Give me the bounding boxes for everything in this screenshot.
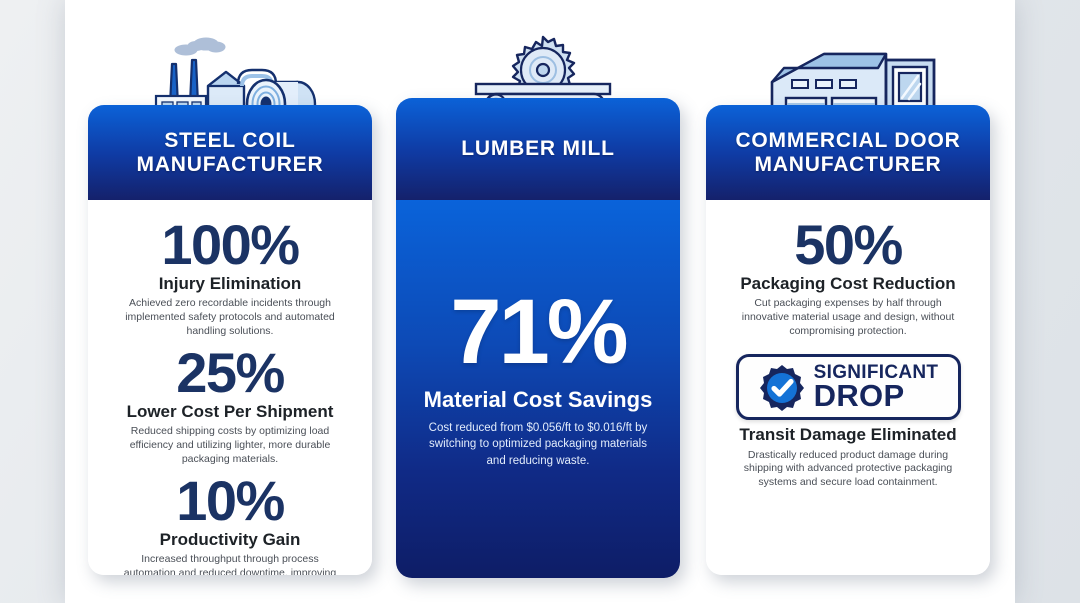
case-card-commercial-door[interactable]: COMMERCIAL DOOR MANUFACTURER 50% Packagi… — [706, 105, 990, 575]
featured-stat-description: Cost reduced from $0.056/ft to $0.016/ft… — [420, 420, 656, 469]
card-title-lumber-mill: LUMBER MILL — [461, 137, 614, 161]
stat-block: 10% Productivity Gain Increased throughp… — [110, 474, 350, 575]
card-title-commercial-door: COMMERCIAL DOOR MANUFACTURER — [735, 129, 960, 176]
stat-block: 25% Lower Cost Per Shipment Reduced ship… — [110, 346, 350, 467]
stat-description: Cut packaging expenses by half through i… — [728, 297, 968, 339]
check-seal-icon — [758, 363, 806, 411]
featured-stat-label: Material Cost Savings — [420, 387, 656, 412]
status-badge: SIGNIFICANT DROP — [736, 354, 961, 420]
stat-label: Injury Elimination — [110, 274, 350, 294]
card-body-lumber-mill: 71% Material Cost Savings Cost reduced f… — [396, 200, 680, 578]
case-card-steel-coil[interactable]: STEEL COIL MANUFACTURER 100% Injury Elim… — [88, 105, 372, 575]
card-header-commercial-door: COMMERCIAL DOOR MANUFACTURER — [706, 105, 990, 200]
stat-block: Transit Damage Eliminated Drastically re… — [728, 424, 968, 490]
stat-description: Achieved zero recordable incidents throu… — [110, 297, 350, 339]
stat-label: Lower Cost Per Shipment — [110, 402, 350, 422]
card-body-steel-coil: 100% Injury Elimination Achieved zero re… — [88, 200, 372, 575]
stat-label: Transit Damage Eliminated — [728, 425, 968, 445]
case-card-lumber-mill[interactable]: LUMBER MILL 71% Material Cost Savings Co… — [396, 98, 680, 578]
stat-description: Reduced shipping costs by optimizing loa… — [110, 425, 350, 467]
card-title-line2: MANUFACTURER — [755, 153, 942, 176]
stat-number: 25% — [110, 346, 350, 401]
card-header-steel-coil: STEEL COIL MANUFACTURER — [88, 105, 372, 200]
card-body-commercial-door: 50% Packaging Cost Reduction Cut packagi… — [706, 200, 990, 575]
stat-number: 50% — [728, 218, 968, 273]
stat-block: 50% Packaging Cost Reduction Cut packagi… — [728, 218, 968, 339]
stat-label: Packaging Cost Reduction — [728, 274, 968, 294]
stat-description: Drastically reduced product damage durin… — [728, 449, 968, 491]
badge-text: SIGNIFICANT DROP — [814, 364, 939, 410]
card-title-line1: COMMERCIAL DOOR — [735, 129, 960, 152]
case-study-cards-container: STEEL COIL MANUFACTURER 100% Injury Elim… — [0, 0, 1080, 603]
stat-label: Productivity Gain — [110, 530, 350, 550]
stat-block: 100% Injury Elimination Achieved zero re… — [110, 218, 350, 339]
stat-description: Increased throughput through process aut… — [110, 553, 350, 575]
card-title-line2: MANUFACTURER — [137, 153, 324, 176]
card-title-line1: STEEL COIL — [164, 129, 295, 152]
card-title-steel-coil: STEEL COIL MANUFACTURER — [137, 129, 324, 176]
stat-number: 10% — [110, 474, 350, 529]
stat-number: 100% — [110, 218, 350, 273]
featured-stat-block: 71% Material Cost Savings Cost reduced f… — [420, 289, 656, 469]
featured-stat-number: 71% — [420, 289, 656, 376]
badge-line-drop: DROP — [814, 381, 939, 410]
card-header-lumber-mill: LUMBER MILL — [396, 98, 680, 200]
